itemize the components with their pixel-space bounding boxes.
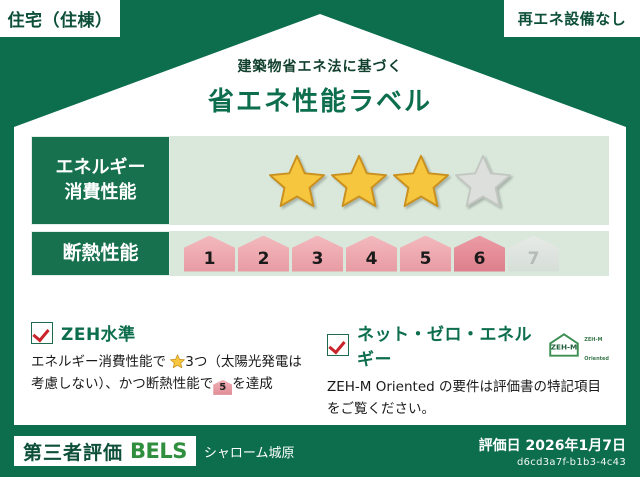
zeh-standard-title: ZEH水準 <box>61 320 136 345</box>
zeh-m-body: ZEH-M Oriented の要件は評価書の特記項目をご覧ください。 <box>327 377 609 421</box>
insulation-level-3: 3 <box>292 236 343 272</box>
zeh-m-block: ネット・ゼロ・エネルギー ZEH-M ZEH-M Oriented ZEH-M … <box>327 320 609 421</box>
evaluation-date: 評価日 2026年1月7日 <box>479 435 626 455</box>
property-name: シャローム城原 <box>204 442 295 461</box>
bels-badge: 第三者評価 BELS <box>14 436 196 466</box>
zeh-m-logo: ZEH-M ZEH-M Oriented <box>547 326 609 364</box>
insulation-label-line1: 断熱性能 <box>62 241 138 267</box>
label-title-block: 建築物省エネ法に基づく 省エネ性能ラベル <box>0 56 640 118</box>
energy-label-line2: 消費性能 <box>65 181 137 205</box>
zeh-m-logo-sub1: ZEH-M <box>584 337 602 343</box>
checkmark-icon <box>327 334 349 356</box>
evaluation-info: 評価日 2026年1月7日 d6cd3a7f-b1b3-4c43 <box>479 435 626 468</box>
zeh-standard-text-post: を達成 <box>232 376 273 392</box>
insulation-level-1: 1 <box>184 236 235 272</box>
energy-performance-row: エネルギー 消費性能 <box>31 136 609 225</box>
energy-stars-container <box>170 136 609 225</box>
inline-star-icon <box>170 354 185 368</box>
bels-japanese-label: 第三者評価 <box>23 438 123 465</box>
energy-label-line1: エネルギー <box>56 156 146 180</box>
zeh-m-title: ネット・ゼロ・エネルギー <box>357 320 535 370</box>
inline-level-badge: 5 <box>213 380 232 395</box>
insulation-level-6: 6 <box>454 236 505 272</box>
svg-text:ZEH-M: ZEH-M <box>551 343 578 352</box>
renewable-equipment-chip: 再エネ設備なし <box>504 0 640 37</box>
insulation-level-2: 2 <box>238 236 289 272</box>
insulation-level-5: 5 <box>400 236 451 272</box>
insulation-levels-container: 1 2 3 4 5 6 7 <box>170 231 609 276</box>
insulation-level-4: 4 <box>346 236 397 272</box>
ratings-section: エネルギー 消費性能 断熱性能 <box>31 136 609 282</box>
star-filled-2 <box>330 153 388 209</box>
zeh-standard-header: ZEH水準 <box>31 320 313 345</box>
star-empty-4 <box>454 153 512 209</box>
zeh-standard-block: ZEH水準 エネルギー消費性能で 3つ（太陽光発電は考慮しない）、かつ断熱性能で… <box>31 320 313 421</box>
checkmark-icon <box>31 322 53 344</box>
title-main: 省エネ性能ラベル <box>0 81 640 118</box>
zeh-m-house-icon: ZEH-M <box>547 332 581 358</box>
zeh-m-logo-sub2: Oriented <box>584 356 609 362</box>
insulation-performance-row: 断熱性能 1 2 3 4 5 6 7 <box>31 231 609 276</box>
footer-bar: 第三者評価 BELS シャローム城原 評価日 2026年1月7日 d6cd3a7… <box>0 425 640 477</box>
title-subtitle: 建築物省エネ法に基づく <box>0 56 640 76</box>
energy-performance-label-box: エネルギー 消費性能 <box>31 136 170 225</box>
zeh-standard-body: エネルギー消費性能で 3つ（太陽光発電は考慮しない）、かつ断熱性能で5を達成 <box>31 352 313 396</box>
evaluation-id: d6cd3a7f-b1b3-4c43 <box>479 457 626 468</box>
zeh-standard-text-pre: エネルギー消費性能で <box>31 354 166 370</box>
star-filled-1 <box>268 153 326 209</box>
zeh-section: ZEH水準 エネルギー消費性能で 3つ（太陽光発電は考慮しない）、かつ断熱性能で… <box>31 320 609 421</box>
insulation-level-7: 7 <box>508 236 559 272</box>
star-filled-3 <box>392 153 450 209</box>
energy-performance-label: 住宅（住棟） 再エネ設備なし 建築物省エネ法に基づく 省エネ性能ラベル いい部屋… <box>0 0 640 477</box>
building-type-chip: 住宅（住棟） <box>0 0 120 37</box>
zeh-m-header: ネット・ゼロ・エネルギー ZEH-M ZEH-M Oriented <box>327 320 609 370</box>
zeh-m-logo-caption: ZEH-M Oriented <box>584 326 609 364</box>
insulation-performance-label-box: 断熱性能 <box>31 231 170 276</box>
bels-logo-text: BELS <box>130 439 187 463</box>
